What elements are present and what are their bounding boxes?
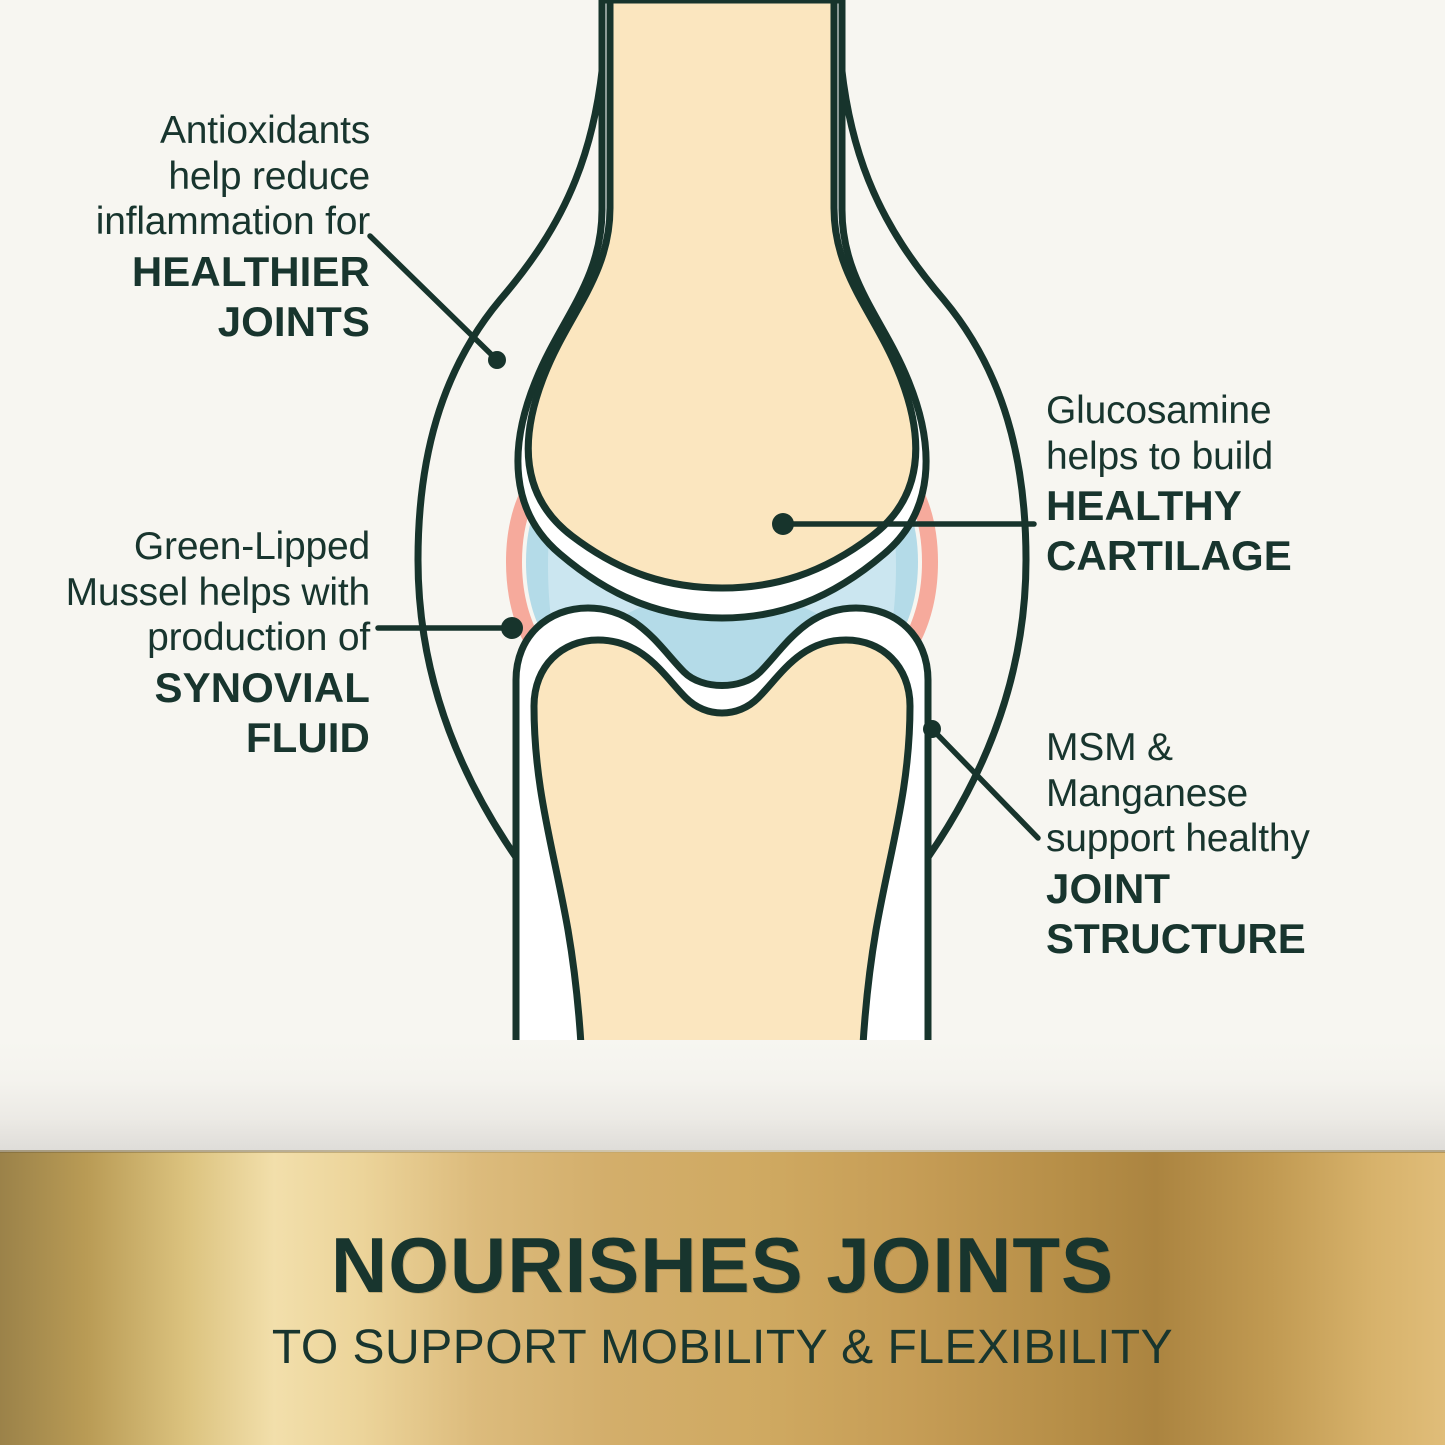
callout-antioxidants-line-3: inflammation for	[30, 199, 370, 245]
callout-msm-manganese: MSM & Manganese support healthy JOINT ST…	[1046, 725, 1426, 962]
callout-glucosamine: Glucosamine helps to build HEALTHY CARTI…	[1046, 388, 1426, 579]
callout-mussel-line-1: Green-Lipped	[10, 524, 370, 570]
gold-band-top-edge	[0, 1150, 1445, 1153]
callout-mussel-line-3: production of	[10, 615, 370, 661]
callout-msm-line-3: support healthy	[1046, 816, 1426, 862]
joint-health-infographic: Antioxidants help reduce inflammation fo…	[0, 0, 1445, 1445]
callout-green-lipped-mussel: Green-Lipped Mussel helps with productio…	[10, 524, 370, 761]
banner-title: NOURISHES JOINTS	[331, 1226, 1114, 1304]
callout-mussel-bold-2: FLUID	[10, 714, 370, 761]
leader-antioxidants	[370, 236, 506, 369]
callout-mussel-bold-1: SYNOVIAL	[10, 664, 370, 711]
callout-glucosamine-bold-1: HEALTHY	[1046, 482, 1426, 529]
callout-glucosamine-line-2: helps to build	[1046, 434, 1426, 480]
callout-antioxidants-line-1: Antioxidants	[30, 108, 370, 154]
callout-msm-bold-2: STRUCTURE	[1046, 915, 1426, 962]
callout-antioxidants-line-2: help reduce	[30, 154, 370, 200]
background-fade-strip	[0, 1040, 1445, 1152]
callout-msm-line-1: MSM &	[1046, 725, 1426, 771]
callout-antioxidants-bold-2: JOINTS	[30, 298, 370, 345]
leader-green-lipped-mussel	[378, 617, 523, 639]
callout-antioxidants-bold-1: HEALTHIER	[30, 248, 370, 295]
callout-glucosamine-bold-2: CARTILAGE	[1046, 532, 1426, 579]
callout-antioxidants: Antioxidants help reduce inflammation fo…	[30, 108, 370, 345]
callout-glucosamine-line-1: Glucosamine	[1046, 388, 1426, 434]
banner-subtitle: TO SUPPORT MOBILITY & FLEXIBILITY	[272, 1324, 1173, 1372]
callout-msm-line-2: Manganese	[1046, 771, 1426, 817]
callout-mussel-line-2: Mussel helps with	[10, 570, 370, 616]
leader-msm	[923, 720, 1038, 838]
gold-banner: NOURISHES JOINTS TO SUPPORT MOBILITY & F…	[0, 1152, 1445, 1445]
callout-msm-bold-1: JOINT	[1046, 865, 1426, 912]
